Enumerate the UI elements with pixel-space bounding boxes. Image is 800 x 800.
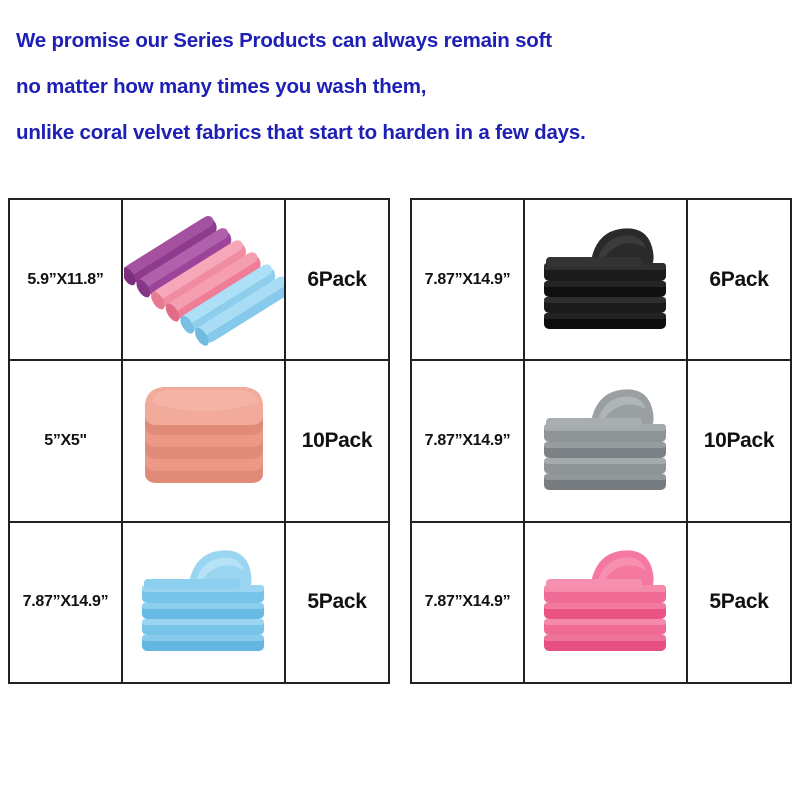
pack-cell: 6Pack <box>286 200 388 359</box>
table-row: 7.87”X14.9” <box>412 361 790 522</box>
table-row: 7.87”X14.9” <box>412 200 790 361</box>
size-cell: 7.87”X14.9” <box>412 200 525 359</box>
pack-cell: 5Pack <box>688 523 790 682</box>
size-cell: 7.87”X14.9” <box>412 361 525 520</box>
right-spec-table: 7.87”X14.9” <box>410 198 792 684</box>
pack-label: 10Pack <box>704 429 775 453</box>
size-label: 7.87”X14.9” <box>425 432 511 450</box>
headline-line-2: no matter how many times you wash them, <box>16 64 784 110</box>
table-row: 7.87”X14.9” <box>10 523 388 682</box>
size-label: 7.87”X14.9” <box>425 593 511 611</box>
table-row: 5.9”X11.8” <box>10 200 388 361</box>
left-spec-table: 5.9”X11.8” <box>8 198 390 684</box>
pack-label: 5Pack <box>709 590 768 614</box>
stacked-square-cloths-pink-image <box>129 377 279 505</box>
product-image-cell <box>123 200 286 359</box>
pack-label: 6Pack <box>709 268 768 292</box>
pack-cell: 10Pack <box>688 361 790 520</box>
size-cell: 7.87”X14.9” <box>10 523 123 682</box>
headline-line-1: We promise our Series Products can alway… <box>16 18 784 64</box>
size-cell: 5.9”X11.8” <box>10 200 123 359</box>
folded-towel-stack-black-image <box>530 215 682 345</box>
product-image-cell <box>123 361 286 520</box>
size-cell: 7.87”X14.9” <box>412 523 525 682</box>
pack-label: 6Pack <box>307 268 366 292</box>
size-cell: 5”X5" <box>10 361 123 520</box>
product-spec-tables: 5.9”X11.8” <box>8 198 792 684</box>
rolled-towels-multicolor-image <box>124 205 284 355</box>
table-row: 5”X5" 10Pack <box>10 361 388 522</box>
pack-cell: 6Pack <box>688 200 790 359</box>
pack-label: 10Pack <box>302 429 373 453</box>
product-image-cell <box>525 200 688 359</box>
product-image-cell <box>525 361 688 520</box>
folded-towel-stack-blue-image <box>128 537 280 667</box>
size-label: 7.87”X14.9” <box>425 271 511 289</box>
table-row: 7.87”X14.9” <box>412 523 790 682</box>
promise-headline: We promise our Series Products can alway… <box>0 18 800 156</box>
product-image-cell <box>525 523 688 682</box>
pack-cell: 10Pack <box>286 361 388 520</box>
size-label: 7.87”X14.9” <box>23 593 109 611</box>
size-label: 5.9”X11.8” <box>27 271 103 289</box>
folded-towel-stack-gray-image <box>530 376 682 506</box>
size-label: 5”X5" <box>44 432 87 450</box>
folded-towel-stack-pink-image <box>530 537 682 667</box>
headline-line-3: unlike coral velvet fabrics that start t… <box>16 110 784 156</box>
pack-label: 5Pack <box>307 590 366 614</box>
product-image-cell <box>123 523 286 682</box>
pack-cell: 5Pack <box>286 523 388 682</box>
